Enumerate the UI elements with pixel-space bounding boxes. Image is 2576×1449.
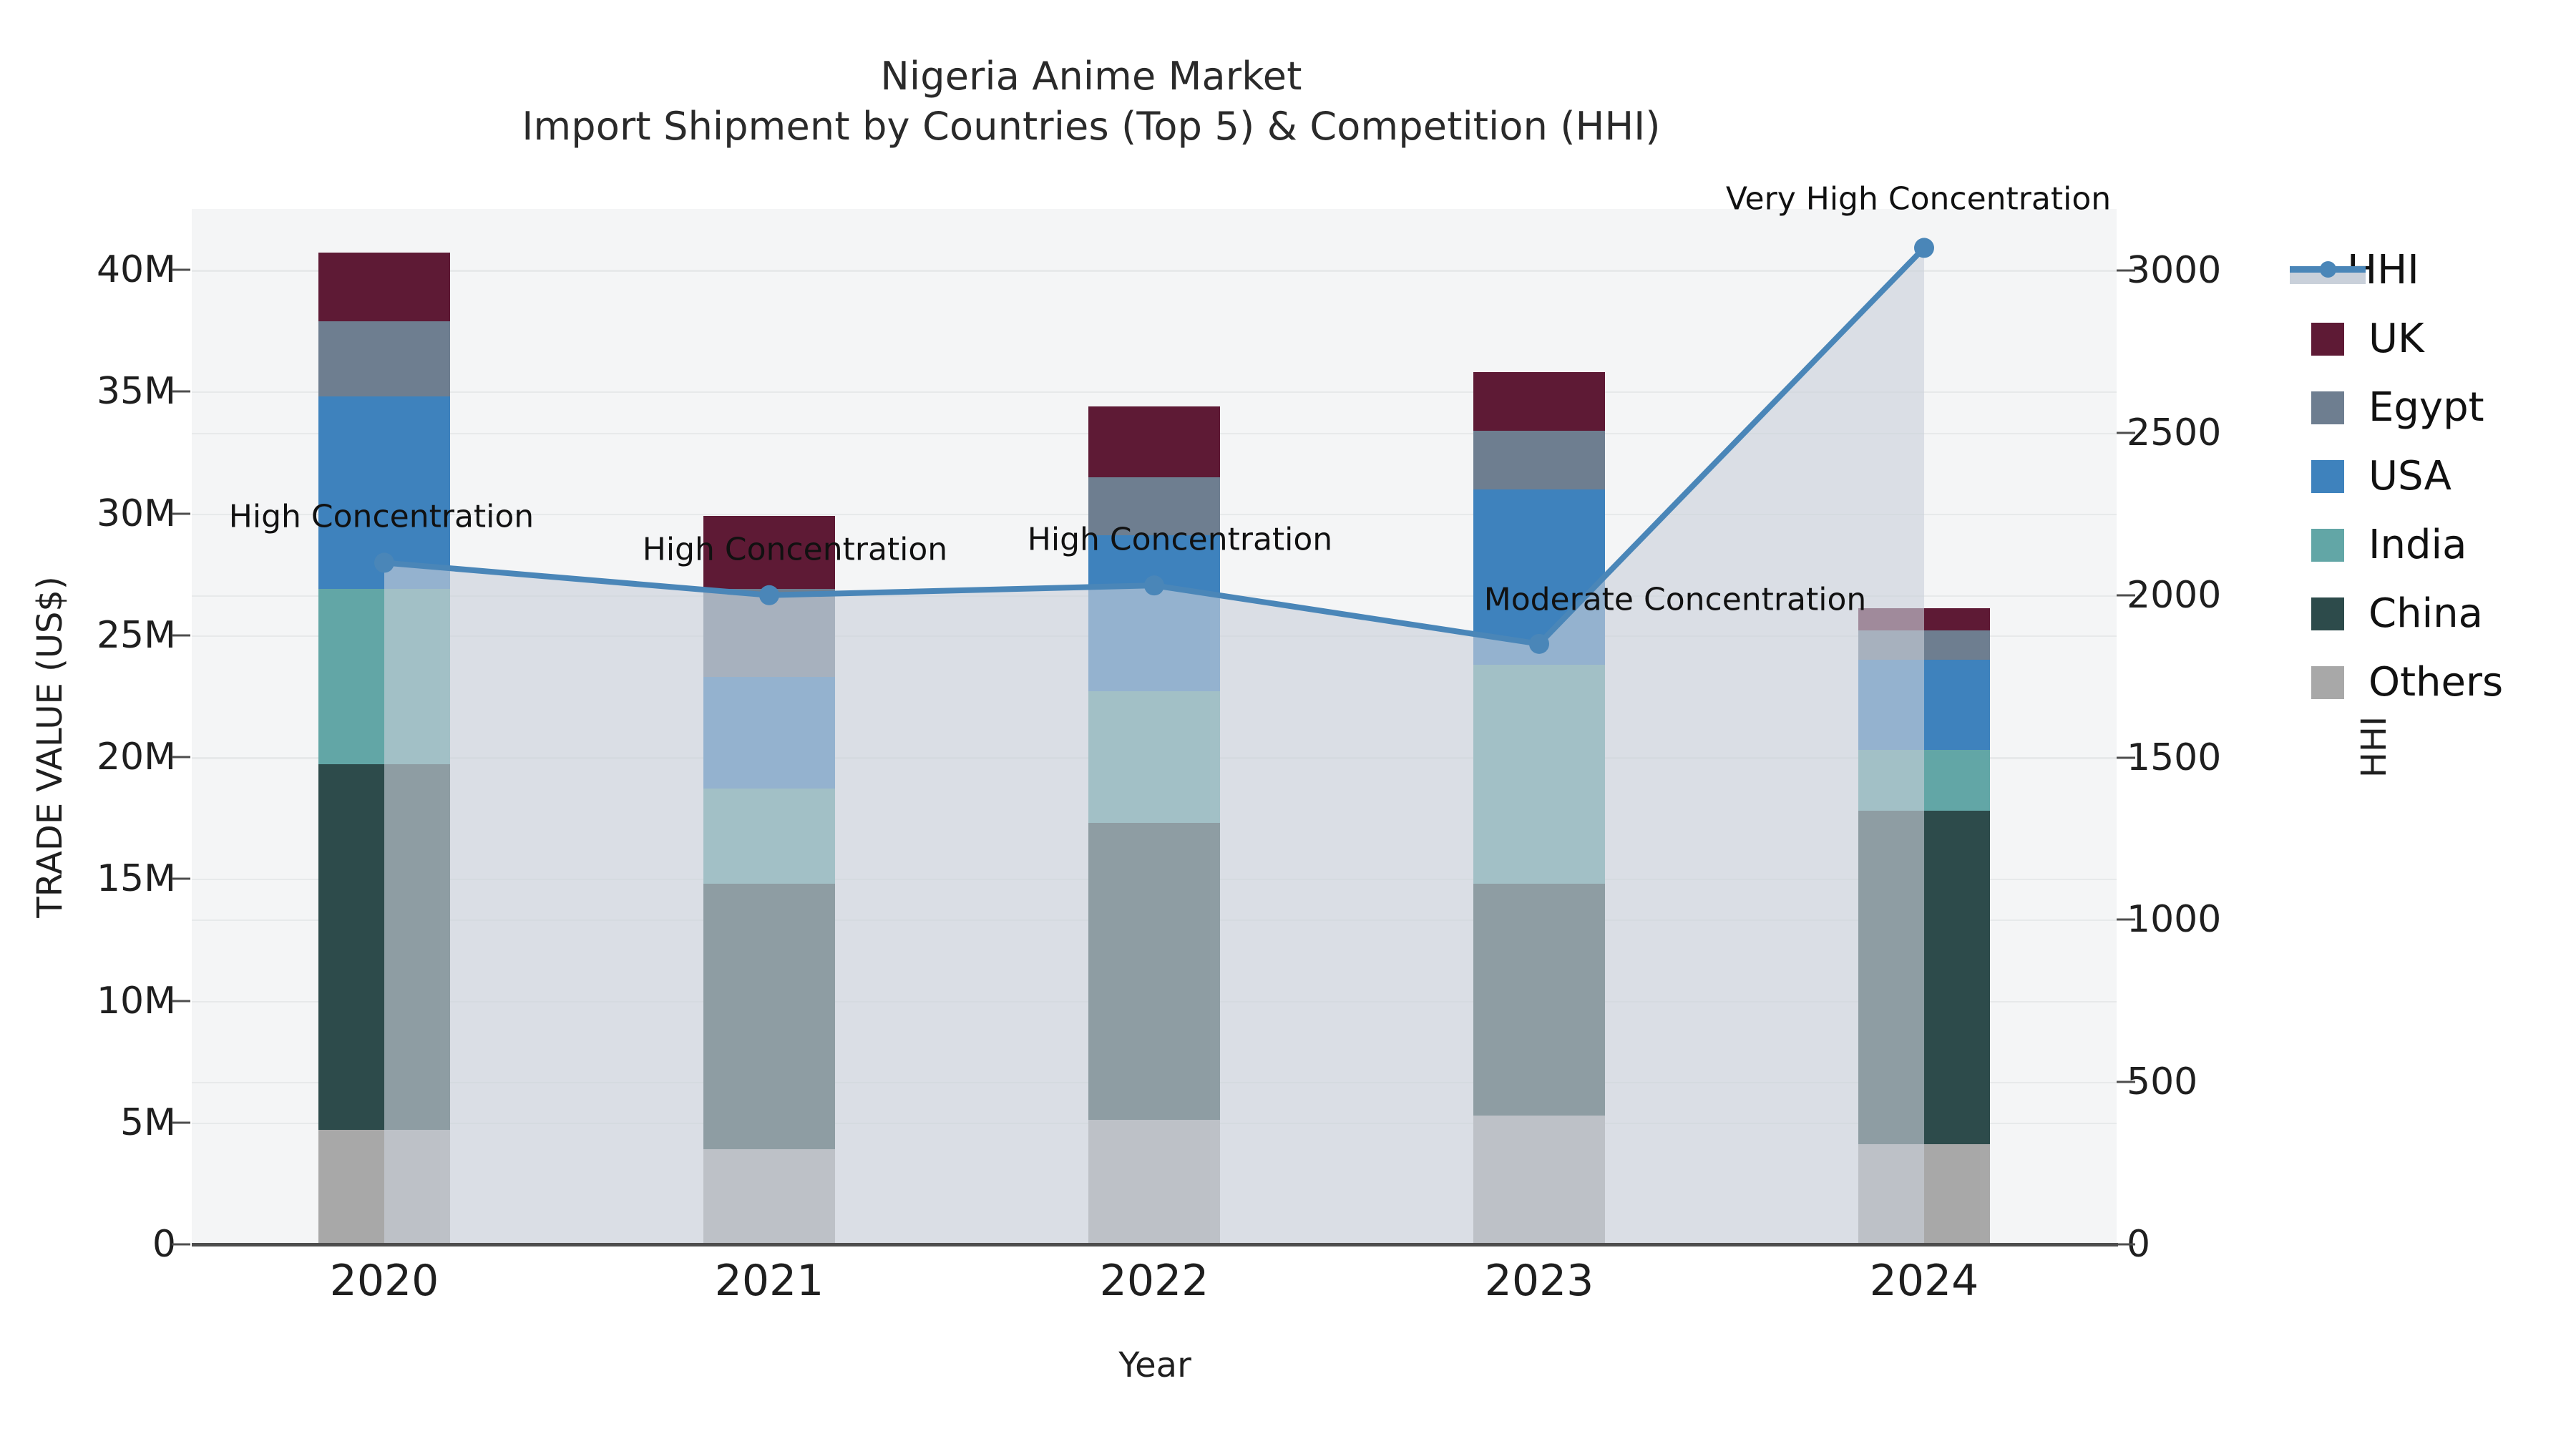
- plot-area: [192, 209, 2117, 1244]
- y-axis-left-tick-label: 20M: [0, 736, 176, 779]
- x-axis-label: Year: [192, 1345, 2118, 1385]
- bar-segment-uk[interactable]: [318, 253, 450, 321]
- x-axis-tick-label-2020: 2020: [330, 1256, 439, 1306]
- bar-segment-china[interactable]: [703, 884, 835, 1149]
- legend-swatch-icon: [2311, 529, 2344, 562]
- bar-segment-india[interactable]: [1088, 691, 1220, 823]
- y-axis-right-tick-label: 3000: [2127, 249, 2313, 292]
- chart-figure: Nigeria Anime Market Import Shipment by …: [0, 0, 2576, 1449]
- bar-segment-usa[interactable]: [318, 396, 450, 589]
- chart-title: Nigeria Anime Market Import Shipment by …: [0, 52, 2182, 152]
- y-axis-right-tick-mark: [2117, 270, 2135, 272]
- y-axis-right-tick-label: 500: [2127, 1060, 2313, 1103]
- legend-item-others[interactable]: Others: [2311, 648, 2576, 717]
- legend-item-label: Egypt: [2368, 388, 2484, 428]
- bar-segment-uk[interactable]: [1858, 608, 1990, 630]
- y-axis-right-tick-label: 1000: [2127, 898, 2313, 941]
- hhi-annotation-label: Moderate Concentration: [1484, 581, 1867, 618]
- y-axis-left-label: TRADE VALUE (US$): [30, 461, 70, 1033]
- chart-legend: HHIUKEgyptUSAIndiaChinaOthers: [2311, 236, 2576, 717]
- bar-stack-2021[interactable]: [703, 516, 835, 1244]
- y-axis-left-tick-mark: [172, 756, 190, 758]
- y-axis-left-tick-mark: [172, 391, 190, 393]
- y-axis-left-tick-label: 40M: [0, 248, 176, 291]
- bar-segment-usa[interactable]: [1858, 660, 1990, 750]
- bar-segment-china[interactable]: [1858, 811, 1990, 1144]
- bar-segment-others[interactable]: [1858, 1144, 1990, 1244]
- legend-item-china[interactable]: China: [2311, 580, 2576, 648]
- gridline: [192, 270, 2117, 272]
- bar-segment-others[interactable]: [1473, 1116, 1605, 1244]
- hhi-annotation-label: High Concentration: [1028, 522, 1332, 558]
- y-axis-left-tick-label: 0: [0, 1223, 176, 1266]
- legend-item-uk[interactable]: UK: [2311, 305, 2576, 374]
- bar-stack-2020[interactable]: [318, 253, 450, 1244]
- bar-stack-2023[interactable]: [1473, 372, 1605, 1244]
- bar-segment-usa[interactable]: [1088, 535, 1220, 691]
- y-axis-right-tick-label: 0: [2127, 1223, 2313, 1266]
- legend-swatch-icon: [2311, 391, 2344, 424]
- bar-segment-egypt[interactable]: [318, 321, 450, 397]
- legend-item-label: USA: [2368, 457, 2451, 497]
- legend-swatch-icon: [2311, 460, 2344, 493]
- hhi-annotation-label: Very High Concentration: [1726, 181, 2111, 218]
- y-axis-left-tick-label: 15M: [0, 857, 176, 900]
- gridline: [192, 391, 2117, 393]
- bar-segment-india[interactable]: [1473, 665, 1605, 884]
- hhi-annotation-label: High Concentration: [229, 499, 534, 535]
- y-axis-right-tick-mark: [2117, 1081, 2135, 1083]
- legend-item-label: China: [2368, 594, 2483, 634]
- y-axis-left-tick-mark: [172, 1000, 190, 1002]
- y-axis-left-tick-label: 5M: [0, 1101, 176, 1144]
- bar-segment-egypt[interactable]: [703, 589, 835, 677]
- chart-title-line-2: Import Shipment by Countries (Top 5) & C…: [0, 102, 2182, 152]
- x-axis-tick-label-2021: 2021: [715, 1256, 824, 1306]
- legend-item-india[interactable]: India: [2311, 511, 2576, 580]
- x-axis-line: [192, 1243, 2118, 1246]
- bar-segment-india[interactable]: [1858, 750, 1990, 811]
- y-axis-right-tick-mark: [2117, 1244, 2135, 1246]
- legend-item-hhi[interactable]: HHI: [2311, 236, 2576, 305]
- y-axis-left-tick-mark: [172, 1121, 190, 1123]
- y-axis-right-tick-label: 2500: [2127, 411, 2313, 454]
- y-axis-right-tick-mark: [2117, 756, 2135, 758]
- legend-swatch-icon: [2311, 323, 2344, 356]
- y-axis-left-tick-label: 10M: [0, 980, 176, 1023]
- y-axis-left-tick-label: 35M: [0, 370, 176, 413]
- legend-item-label: India: [2368, 525, 2467, 565]
- bar-segment-china[interactable]: [1088, 823, 1220, 1120]
- y-axis-left-tick-mark: [172, 512, 190, 514]
- bar-stack-2022[interactable]: [1088, 455, 1220, 1244]
- hhi-marker-icon: [2320, 261, 2336, 278]
- x-axis-tick-label-2022: 2022: [1100, 1256, 1209, 1306]
- legend-swatch-icon: [2311, 597, 2344, 630]
- bar-segment-uk[interactable]: [1473, 372, 1605, 431]
- bar-segment-egypt[interactable]: [1858, 630, 1990, 660]
- bar-segment-india[interactable]: [318, 589, 450, 764]
- y-axis-left-tick-label: 25M: [0, 614, 176, 657]
- x-axis-tick-label-2024: 2024: [1870, 1256, 1979, 1306]
- y-axis-left-tick-mark: [172, 878, 190, 880]
- legend-item-label: Others: [2368, 663, 2503, 703]
- bar-segment-usa[interactable]: [1473, 489, 1605, 665]
- y-axis-right-tick-label: 1500: [2127, 736, 2313, 779]
- chart-title-line-1: Nigeria Anime Market: [0, 52, 2182, 102]
- bar-segment-china[interactable]: [318, 764, 450, 1130]
- y-axis-right-tick-mark: [2117, 919, 2135, 921]
- y-axis-left-tick-label: 30M: [0, 492, 176, 535]
- bar-stack-2024[interactable]: [1858, 608, 1990, 1244]
- bar-segment-others[interactable]: [1088, 1120, 1220, 1244]
- y-axis-right-tick-mark: [2117, 594, 2135, 596]
- y-axis-left-tick-mark: [172, 634, 190, 636]
- hhi-point-2024[interactable]: [1914, 238, 1934, 258]
- bar-segment-usa[interactable]: [703, 677, 835, 789]
- y-axis-left-tick-mark: [172, 269, 190, 271]
- y-axis-right-tick-mark: [2117, 431, 2135, 434]
- hhi-line-icon: [2290, 254, 2366, 287]
- y-axis-right-tick-label: 2000: [2127, 574, 2313, 617]
- hhi-annotation-label: High Concentration: [643, 531, 947, 567]
- y-axis-left-tick-mark: [172, 1244, 190, 1246]
- legend-item-egypt[interactable]: Egypt: [2311, 374, 2576, 442]
- legend-item-usa[interactable]: USA: [2311, 442, 2576, 511]
- legend-swatch-icon: [2311, 666, 2344, 699]
- bar-segment-uk[interactable]: [1088, 406, 1220, 477]
- bar-segment-china[interactable]: [1473, 884, 1605, 1115]
- bar-segment-india[interactable]: [703, 789, 835, 884]
- x-axis-tick-label-2023: 2023: [1485, 1256, 1594, 1306]
- bar-segment-others[interactable]: [318, 1130, 450, 1244]
- bar-segment-others[interactable]: [703, 1149, 835, 1244]
- legend-item-label: UK: [2368, 319, 2424, 359]
- bar-segment-egypt[interactable]: [1473, 431, 1605, 489]
